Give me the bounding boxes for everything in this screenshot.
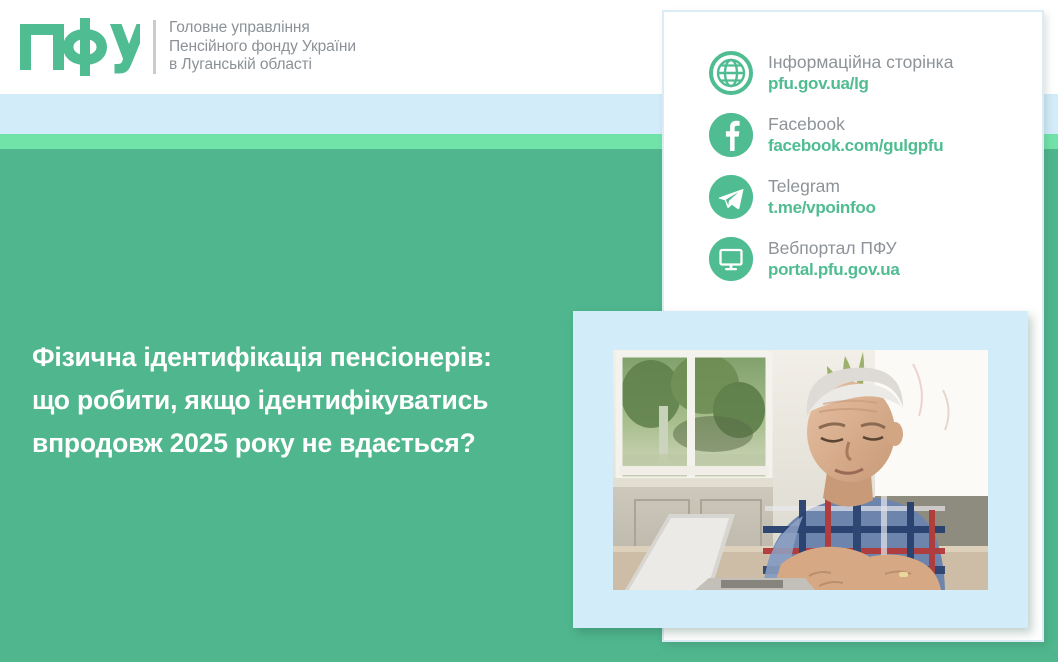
poster-canvas: Головне управління Пенсійного фонду Укра… (0, 0, 1058, 662)
pfu-logo-icon (18, 16, 140, 78)
org-name: Головне управління Пенсійного фонду Укра… (169, 19, 356, 75)
org-line-2: Пенсійного фонду України (169, 38, 356, 57)
headline: Фізична ідентифікація пенсіонерів: що ро… (32, 336, 562, 465)
globe-icon (709, 51, 753, 95)
logo-divider (153, 20, 156, 74)
contact-title: Telegram (768, 176, 876, 197)
contact-text: Інформаційна сторінка pfu.gov.ua/lg (753, 52, 953, 94)
contact-url[interactable]: facebook.com/gulgpfu (768, 135, 943, 156)
telegram-icon (709, 175, 753, 219)
monitor-icon (709, 237, 753, 281)
headline-line-1: Фізична ідентифікація пенсіонерів: (32, 336, 562, 379)
photo-elderly-man-laptop (613, 350, 988, 590)
contact-text: Вебпортал ПФУ portal.pfu.gov.ua (753, 238, 900, 280)
contact-url[interactable]: t.me/vpoinfoo (768, 197, 876, 218)
header: Головне управління Пенсійного фонду Укра… (0, 0, 660, 94)
contact-url[interactable]: pfu.gov.ua/lg (768, 73, 953, 94)
contact-list: Інформаційна сторінка pfu.gov.ua/lg Face… (709, 42, 1029, 290)
org-line-1: Головне управління (169, 19, 356, 38)
contact-item-telegram[interactable]: Telegram t.me/vpoinfoo (709, 166, 1029, 228)
contact-item-facebook[interactable]: Facebook facebook.com/gulgpfu (709, 104, 1029, 166)
logo-lockup: Головне управління Пенсійного фонду Укра… (0, 16, 356, 78)
contact-title: Вебпортал ПФУ (768, 238, 900, 259)
headline-line-3: впродовж 2025 року не вдається? (32, 422, 562, 465)
org-line-3: в Луганській області (169, 56, 356, 75)
contact-text: Facebook facebook.com/gulgpfu (753, 114, 943, 156)
contact-title: Інформаційна сторінка (768, 52, 953, 73)
photo-card (573, 311, 1028, 628)
contact-text: Telegram t.me/vpoinfoo (753, 176, 876, 218)
headline-line-2: що робити, якщо ідентифікуватись (32, 379, 562, 422)
contact-url[interactable]: portal.pfu.gov.ua (768, 259, 900, 280)
contact-item-webportal[interactable]: Вебпортал ПФУ portal.pfu.gov.ua (709, 228, 1029, 290)
contact-title: Facebook (768, 114, 943, 135)
facebook-icon (709, 113, 753, 157)
contact-item-website[interactable]: Інформаційна сторінка pfu.gov.ua/lg (709, 42, 1029, 104)
